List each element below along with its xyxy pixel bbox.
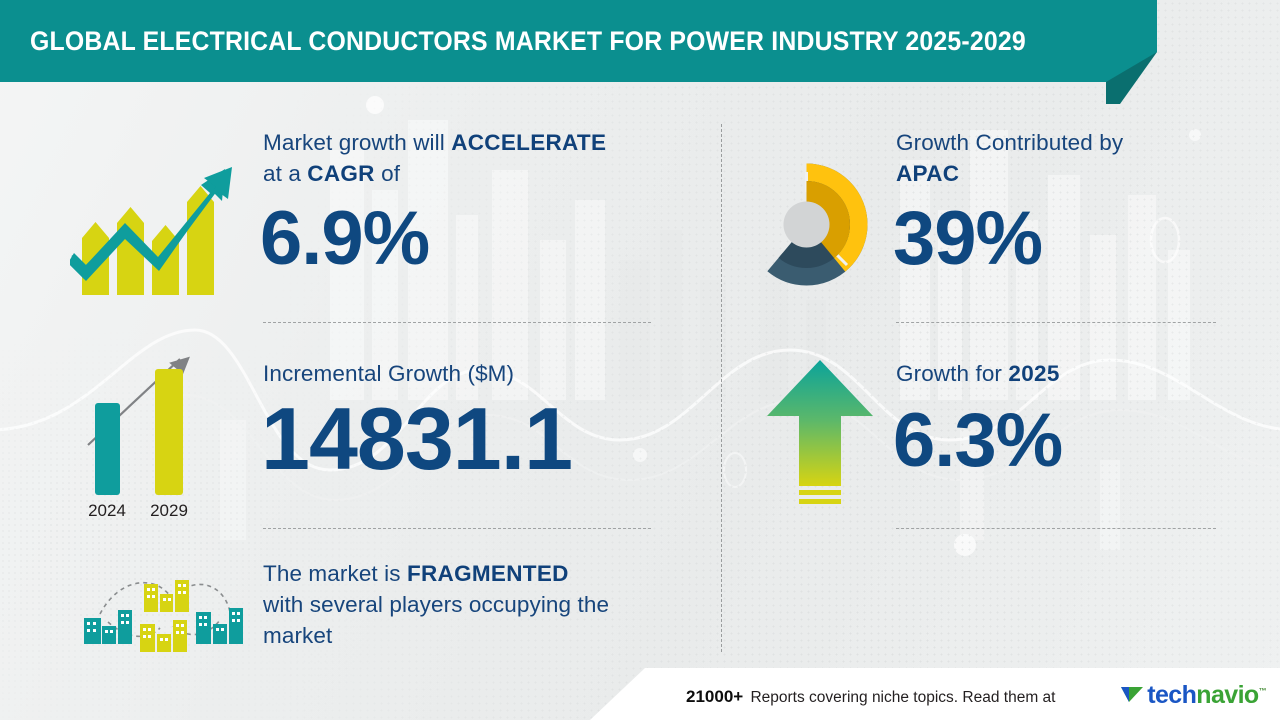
growth-2025-label: Growth for 2025 — [896, 358, 1226, 389]
growth-2025-block: Growth for 2025 6.3% — [896, 358, 1226, 479]
cagr-value: 6.9% — [260, 201, 663, 277]
apac-line2: APAC — [896, 158, 1226, 189]
up-arrow-gradient-icon — [765, 358, 875, 508]
apac-line1: Growth Contributed by — [896, 127, 1226, 158]
bar-label-2024: 2024 — [88, 501, 126, 520]
cagr-block: Market growth will ACCELERATE at a CAGR … — [263, 127, 663, 277]
fragmented-word: FRAGMENTED — [407, 561, 569, 586]
footer: 21000+ 21000+ Reports covering niche top… — [0, 668, 1280, 720]
cagr-word: CAGR — [307, 161, 374, 186]
left-divider-2 — [263, 528, 651, 529]
growth-2025-value: 6.3% — [893, 403, 1226, 479]
logo-trademark: ™ — [1259, 686, 1266, 695]
growth-2025-year: 2025 — [1008, 361, 1059, 386]
apac-block: Growth Contributed by APAC 39% — [896, 127, 1226, 277]
fragmentation-line1: The market is FRAGMENTED — [263, 558, 683, 589]
right-divider-2 — [896, 528, 1216, 529]
bar-label-2029: 2029 — [150, 501, 188, 520]
technavio-logo[interactable]: technavio™ — [1119, 680, 1266, 710]
cagr-lead-line2-prefix: at a — [263, 161, 307, 186]
two-bar-comparison-icon: 2024 2029 — [72, 335, 247, 525]
incremental-growth-block: Incremental Growth ($M) 14831.1 — [263, 358, 673, 483]
donut-chart-icon — [744, 162, 869, 287]
connected-cities-icon — [78, 562, 248, 662]
logo-text-tech: tech — [1147, 681, 1196, 709]
left-divider-1 — [263, 322, 651, 323]
incremental-growth-value: 14831.1 — [261, 395, 673, 483]
page-title: GLOBAL ELECTRICAL CONDUCTORS MARKET FOR … — [30, 26, 1026, 57]
fragmentation-line2: with several players occupying the — [263, 589, 683, 620]
fragmentation-line3: market — [263, 620, 683, 651]
cagr-lead-line2-suffix: of — [375, 161, 400, 186]
cagr-lead-line1: Market growth will ACCELERATE — [263, 127, 663, 158]
fragmentation-block: The market is FRAGMENTED with several pl… — [263, 558, 683, 651]
logo-text-navio: navio — [1196, 681, 1258, 709]
footer-text: 21000+ Reports covering niche topics. Re… — [686, 689, 1055, 707]
cagr-lead-line2: at a CAGR of — [263, 158, 663, 189]
cagr-accelerate-word: ACCELERATE — [451, 130, 606, 155]
footer-tagline: Reports covering niche topics. Read them… — [750, 689, 1055, 706]
technavio-arrow-logo-icon — [1119, 682, 1145, 708]
apac-value: 39% — [893, 201, 1226, 277]
right-divider-1 — [896, 322, 1216, 323]
growth-2025-label-prefix: Growth for — [896, 361, 1008, 386]
fragmentation-prefix: The market is — [263, 561, 407, 586]
content-area: Market growth will ACCELERATE at a CAGR … — [0, 0, 1280, 720]
incremental-growth-label: Incremental Growth ($M) — [263, 358, 673, 389]
column-divider — [721, 124, 722, 652]
growth-bar-arrow-icon — [70, 145, 245, 310]
apac-word: APAC — [896, 161, 959, 186]
cagr-lead-prefix: Market growth will — [263, 130, 451, 155]
